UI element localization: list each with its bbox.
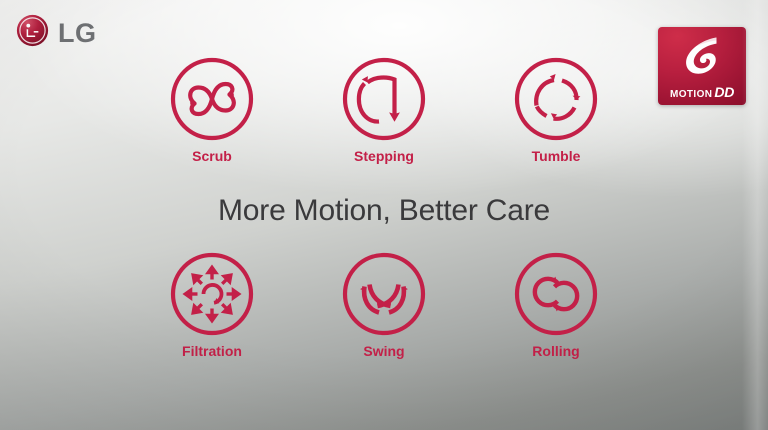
pendulum-swing-arrows-icon (342, 252, 426, 336)
motion-item-rolling[interactable]: Rolling (504, 252, 608, 358)
motion-label-stepping: Stepping (354, 149, 414, 163)
lg-logo-text: LG (58, 20, 97, 47)
motion-row-top: Scrub Stepping (0, 57, 768, 163)
motion-label-swing: Swing (363, 344, 404, 358)
motion-item-scrub[interactable]: Scrub (160, 57, 264, 163)
motion-item-stepping[interactable]: Stepping (332, 57, 436, 163)
motion-label-filtration: Filtration (182, 344, 242, 358)
motion-item-tumble[interactable]: Tumble (504, 57, 608, 163)
lg-logo: LG (16, 14, 97, 52)
slide-canvas: LG MOTIONDD (0, 0, 768, 430)
motion-item-filtration[interactable]: Filtration (160, 252, 264, 358)
infinity-arrows-icon (170, 57, 254, 141)
lg-logo-icon (16, 14, 49, 52)
motion-label-scrub: Scrub (192, 149, 232, 163)
double-circular-arrows-icon (514, 252, 598, 336)
motion-label-tumble: Tumble (532, 149, 581, 163)
page-title: More Motion, Better Care (0, 194, 768, 227)
step-up-down-arrow-icon (342, 57, 426, 141)
motion-item-swing[interactable]: Swing (332, 252, 436, 358)
tumble-rotation-arrows-icon (514, 57, 598, 141)
motion-label-rolling: Rolling (532, 344, 579, 358)
motion-row-bottom: Filtration Swing (0, 252, 768, 358)
radiating-arrows-icon (170, 252, 254, 336)
